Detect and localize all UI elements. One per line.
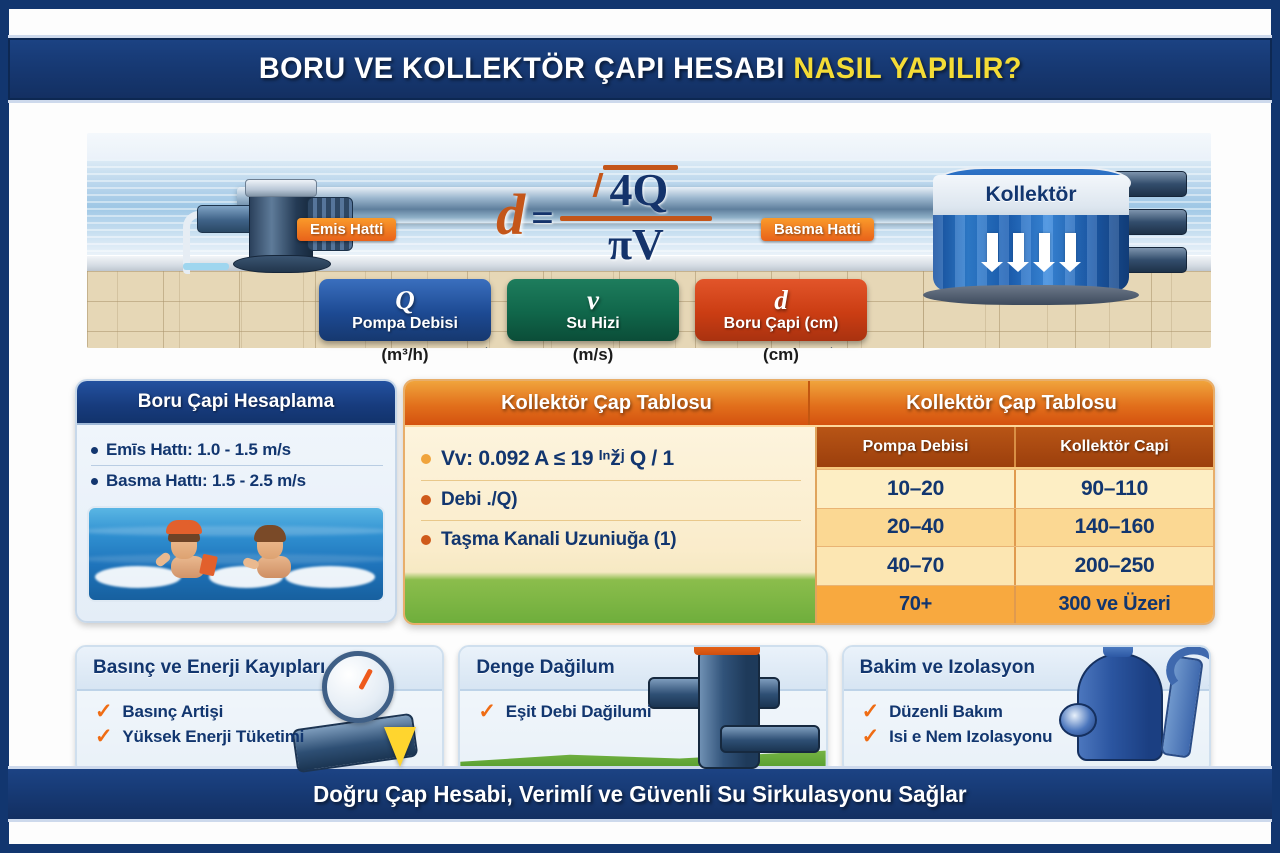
header-banner: BORU VE KOLLEKTÖR ÇAPI HESABI NASIL YAPI…: [8, 35, 1272, 103]
list-item: Debi ./Q): [421, 480, 801, 520]
table-cell: 20–40: [817, 509, 1014, 547]
list-item-label: Emīs Hattı: 1.0 - 1.5 m/s: [106, 440, 291, 460]
collector-tank-label: Kollektör: [927, 183, 1135, 207]
bullet-icon: [421, 495, 431, 505]
list-item: Emīs Hattı: 1.0 - 1.5 m/s: [91, 435, 383, 465]
list-item: Basma Hattı: 1.5 - 2.5 m/s: [91, 465, 383, 496]
variable-chip-d[interactable]: d Boru Çapi (cm): [695, 279, 867, 341]
variable-caption: Pompa Debisi: [352, 315, 458, 333]
suction-line-label: Emis Hatti: [297, 218, 396, 241]
variable-chip-v[interactable]: v Su Hizi: [507, 279, 679, 341]
list-item-label: Taşma Kanali Uzuniuğa (1): [441, 529, 676, 551]
pipe-diameter-panel-title: Boru Çapi Hesaplama: [77, 381, 395, 425]
pipe-diameter-panel: Boru Çapi Hesaplama Emīs Hattı: 1.0 - 1.…: [75, 379, 397, 623]
table-cell: 300 ve Üzeri: [1014, 586, 1213, 624]
list-item: ✓ Isi e Nem Izolasyonu: [862, 724, 1209, 749]
card-maintenance-insulation: Bakim ve Izolasyon ✓ Düzenli Bakım ✓ Isi…: [842, 645, 1211, 775]
table-cell: 90–110: [1014, 470, 1213, 508]
bullet-icon: [421, 535, 431, 545]
table-cell: 10–20: [817, 470, 1014, 508]
discharge-line-label: Basma Hatti: [761, 218, 874, 241]
column-header: Kollektör Capi: [1014, 427, 1213, 467]
table-row: 10–20 90–110: [817, 469, 1213, 508]
page-title: BORU VE KOLLEKTÖR ÇAPI HESABI NASIL YAPI…: [258, 52, 1021, 86]
list-item: ✓ Eşit Debi Dağilumi: [478, 699, 825, 724]
list-item: ✓ Basınç Artişi: [95, 699, 442, 724]
card-pressure-energy: Basınç ve Enerji Kayıpları ✓ Basınç Arti…: [75, 645, 444, 775]
table-row: 40–70 200–250: [817, 546, 1213, 585]
bullet-icon: [421, 454, 431, 464]
diameter-formula: d = 4Q πV: [479, 159, 729, 269]
variable-symbol: d: [774, 288, 788, 314]
infographic-root: BORU VE KOLLEKTÖR ÇAPI HESABI NASIL YAPI…: [0, 0, 1280, 853]
formula-lhs: d: [496, 181, 525, 248]
variable-caption: Su Hizi: [566, 315, 619, 333]
table-cell: 140–160: [1014, 509, 1213, 547]
list-item: Taşma Kanali Uzuniuğa (1): [421, 520, 801, 560]
table-row: 20–40 140–160: [817, 508, 1213, 547]
pipe-velocity-list: Emīs Hattı: 1.0 - 1.5 m/s Basma Hattı: 1…: [77, 425, 395, 500]
swimmers-photo: [87, 506, 385, 602]
check-icon: ✓: [95, 701, 112, 722]
list-item-label: Yüksek Enerji Tüketimi: [122, 727, 304, 747]
check-icon: ✓: [95, 726, 112, 747]
flow-arrows-icon: [927, 233, 1135, 263]
variable-unit: (cm): [695, 345, 867, 365]
variable-symbol: v: [587, 288, 599, 314]
formula-denominator: πV: [608, 223, 664, 267]
collector-panel-headers: Kollektör Çap Tablosu Kollektör Çap Tabl…: [405, 381, 1213, 427]
table-header-row: Pompa Debisi Kollektör Capi: [817, 427, 1213, 469]
collector-panel-title-right: Kollektör Çap Tablosu: [808, 381, 1213, 425]
swimmer-right-icon: [257, 529, 291, 578]
card-balanced-distribution: Denge Dağilum ✓ Eşit Debi Dağilumi: [458, 645, 827, 775]
variable-chips: Q Pompa Debisi v Su Hizi d Boru Çapi (cm…: [319, 279, 889, 371]
footer-banner: Doğru Çap Hesabi, Verimlí ve Güvenli Su …: [8, 766, 1272, 822]
table-row: 70+ 300 ve Üzeri: [817, 585, 1213, 624]
list-item-label: Basma Hattı: 1.5 - 2.5 m/s: [106, 471, 306, 491]
variable-unit: (m³/h): [319, 345, 491, 365]
variable-chip-q[interactable]: Q Pompa Debisi: [319, 279, 491, 341]
list-item-label: Basınç Artişi: [122, 702, 223, 722]
check-icon: ✓: [862, 726, 879, 747]
list-item: Vv: 0.092 A ≤ 19 ᴵⁿžʲ Q / 1: [421, 439, 801, 480]
list-item-label: Isi e Nem Izolasyonu: [889, 727, 1052, 747]
variable-symbol: Q: [395, 288, 415, 314]
column-header: Pompa Debisi: [817, 427, 1014, 467]
table-cell: 70+: [817, 586, 1014, 624]
check-icon: ✓: [478, 701, 495, 722]
bullet-icon: [91, 478, 98, 485]
collector-diameter-table: Pompa Debisi Kollektör Capi 10–20 90–110…: [815, 427, 1213, 623]
table-cell: 200–250: [1014, 547, 1213, 585]
variable-caption: Boru Çapi (cm): [724, 315, 839, 333]
list-item: ✓ Düzenli Bakım: [862, 699, 1209, 724]
footer-text: Doğru Çap Hesabi, Verimlí ve Güvenli Su …: [313, 781, 966, 808]
collector-panel: Kollektör Çap Tablosu Kollektör Çap Tabl…: [403, 379, 1215, 625]
swimmer-left-icon: [171, 529, 205, 578]
check-icon: ✓: [862, 701, 879, 722]
list-item-label: Eşit Debi Dağilumi: [506, 702, 652, 722]
list-item-label: Debi ./Q): [441, 489, 517, 511]
page-title-highlight: NASIL YAPILIR?: [793, 52, 1022, 85]
variable-unit: (m/s): [507, 345, 679, 365]
collector-tank-icon: Kollektör: [927, 159, 1135, 309]
formula-equals: =: [531, 194, 554, 241]
formula-radicand: 4Q: [610, 164, 669, 215]
collector-formula-list: Vv: 0.092 A ≤ 19 ᴵⁿžʲ Q / 1 Debi ./Q) Ta…: [405, 427, 815, 623]
list-item-label: Vv: 0.092 A ≤ 19 ᴵⁿžʲ Q / 1: [441, 447, 674, 471]
bullet-icon: [91, 447, 98, 454]
list-item-label: Düzenli Bakım: [889, 702, 1003, 722]
benefit-cards: Basınç ve Enerji Kayıpları ✓ Basınç Arti…: [75, 645, 1211, 775]
collector-panel-title-left: Kollektör Çap Tablosu: [405, 381, 808, 425]
table-cell: 40–70: [817, 547, 1014, 585]
formula-radical-icon: 4Q: [594, 161, 673, 213]
page-title-main: BORU VE KOLLEKTÖR ÇAPI HESABI: [258, 52, 784, 85]
list-item: ✓ Yüksek Enerji Tüketimi: [95, 724, 442, 749]
